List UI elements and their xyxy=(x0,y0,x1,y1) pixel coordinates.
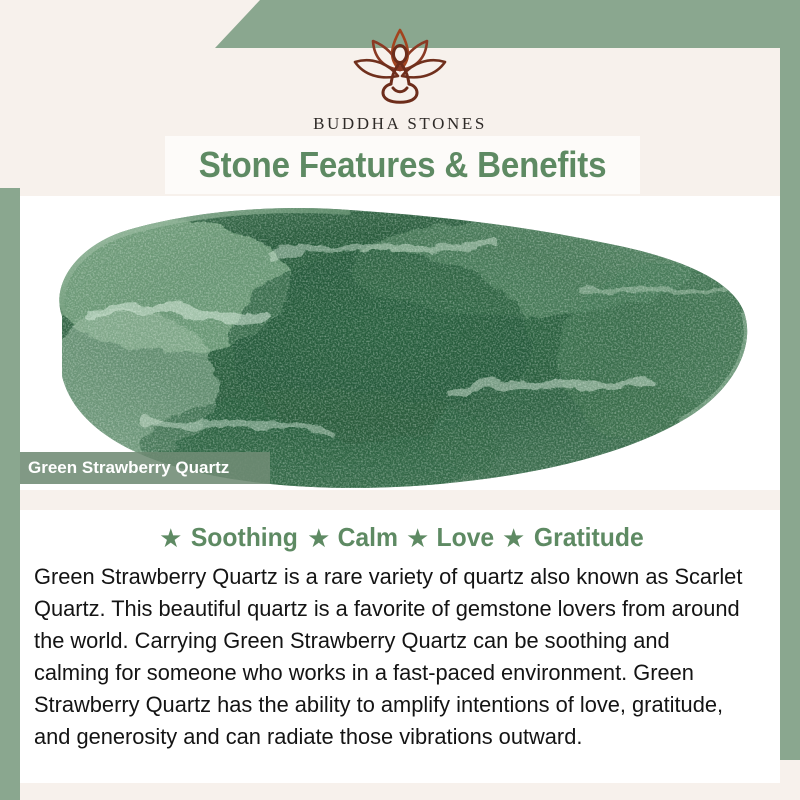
feature-item: ★ Soothing xyxy=(153,522,301,553)
photo-bottom-cream-strip xyxy=(20,488,780,510)
feature-label: Love xyxy=(437,522,495,553)
brand-name: BUDDHA STONES xyxy=(313,114,487,134)
infographic-poster: BUDDHA STONES Stone Features & Benefits xyxy=(0,0,800,800)
photo-caption-label: Green Strawberry Quartz xyxy=(20,458,229,478)
content-area: ★ Soothing ★ Calm ★ Love ★ Gratitude Gre… xyxy=(20,510,780,783)
description-paragraph: Green Strawberry Quartz is a rare variet… xyxy=(34,561,744,753)
feature-item: ★ Love xyxy=(400,522,496,553)
feature-label: Calm xyxy=(338,522,398,553)
green-strawberry-quartz-image xyxy=(20,196,780,490)
feature-item: ★ Calm xyxy=(301,522,400,553)
star-icon: ★ xyxy=(502,525,525,551)
page-title: Stone Features & Benefits xyxy=(199,144,607,186)
star-icon: ★ xyxy=(307,525,330,551)
brand-logo: BUDDHA STONES xyxy=(0,24,800,134)
star-icon: ★ xyxy=(406,525,429,551)
stone-photo xyxy=(20,196,780,490)
star-icon: ★ xyxy=(159,525,182,551)
feature-item: ★ Gratitude xyxy=(496,522,647,553)
lotus-meditation-icon xyxy=(340,24,460,110)
feature-label: Soothing xyxy=(191,522,298,553)
photo-caption-bar: Green Strawberry Quartz xyxy=(20,452,270,484)
feature-label: Gratitude xyxy=(534,522,644,553)
feature-list: ★ Soothing ★ Calm ★ Love ★ Gratitude xyxy=(20,510,780,553)
title-panel: Stone Features & Benefits xyxy=(165,136,640,194)
left-green-band xyxy=(0,188,20,800)
